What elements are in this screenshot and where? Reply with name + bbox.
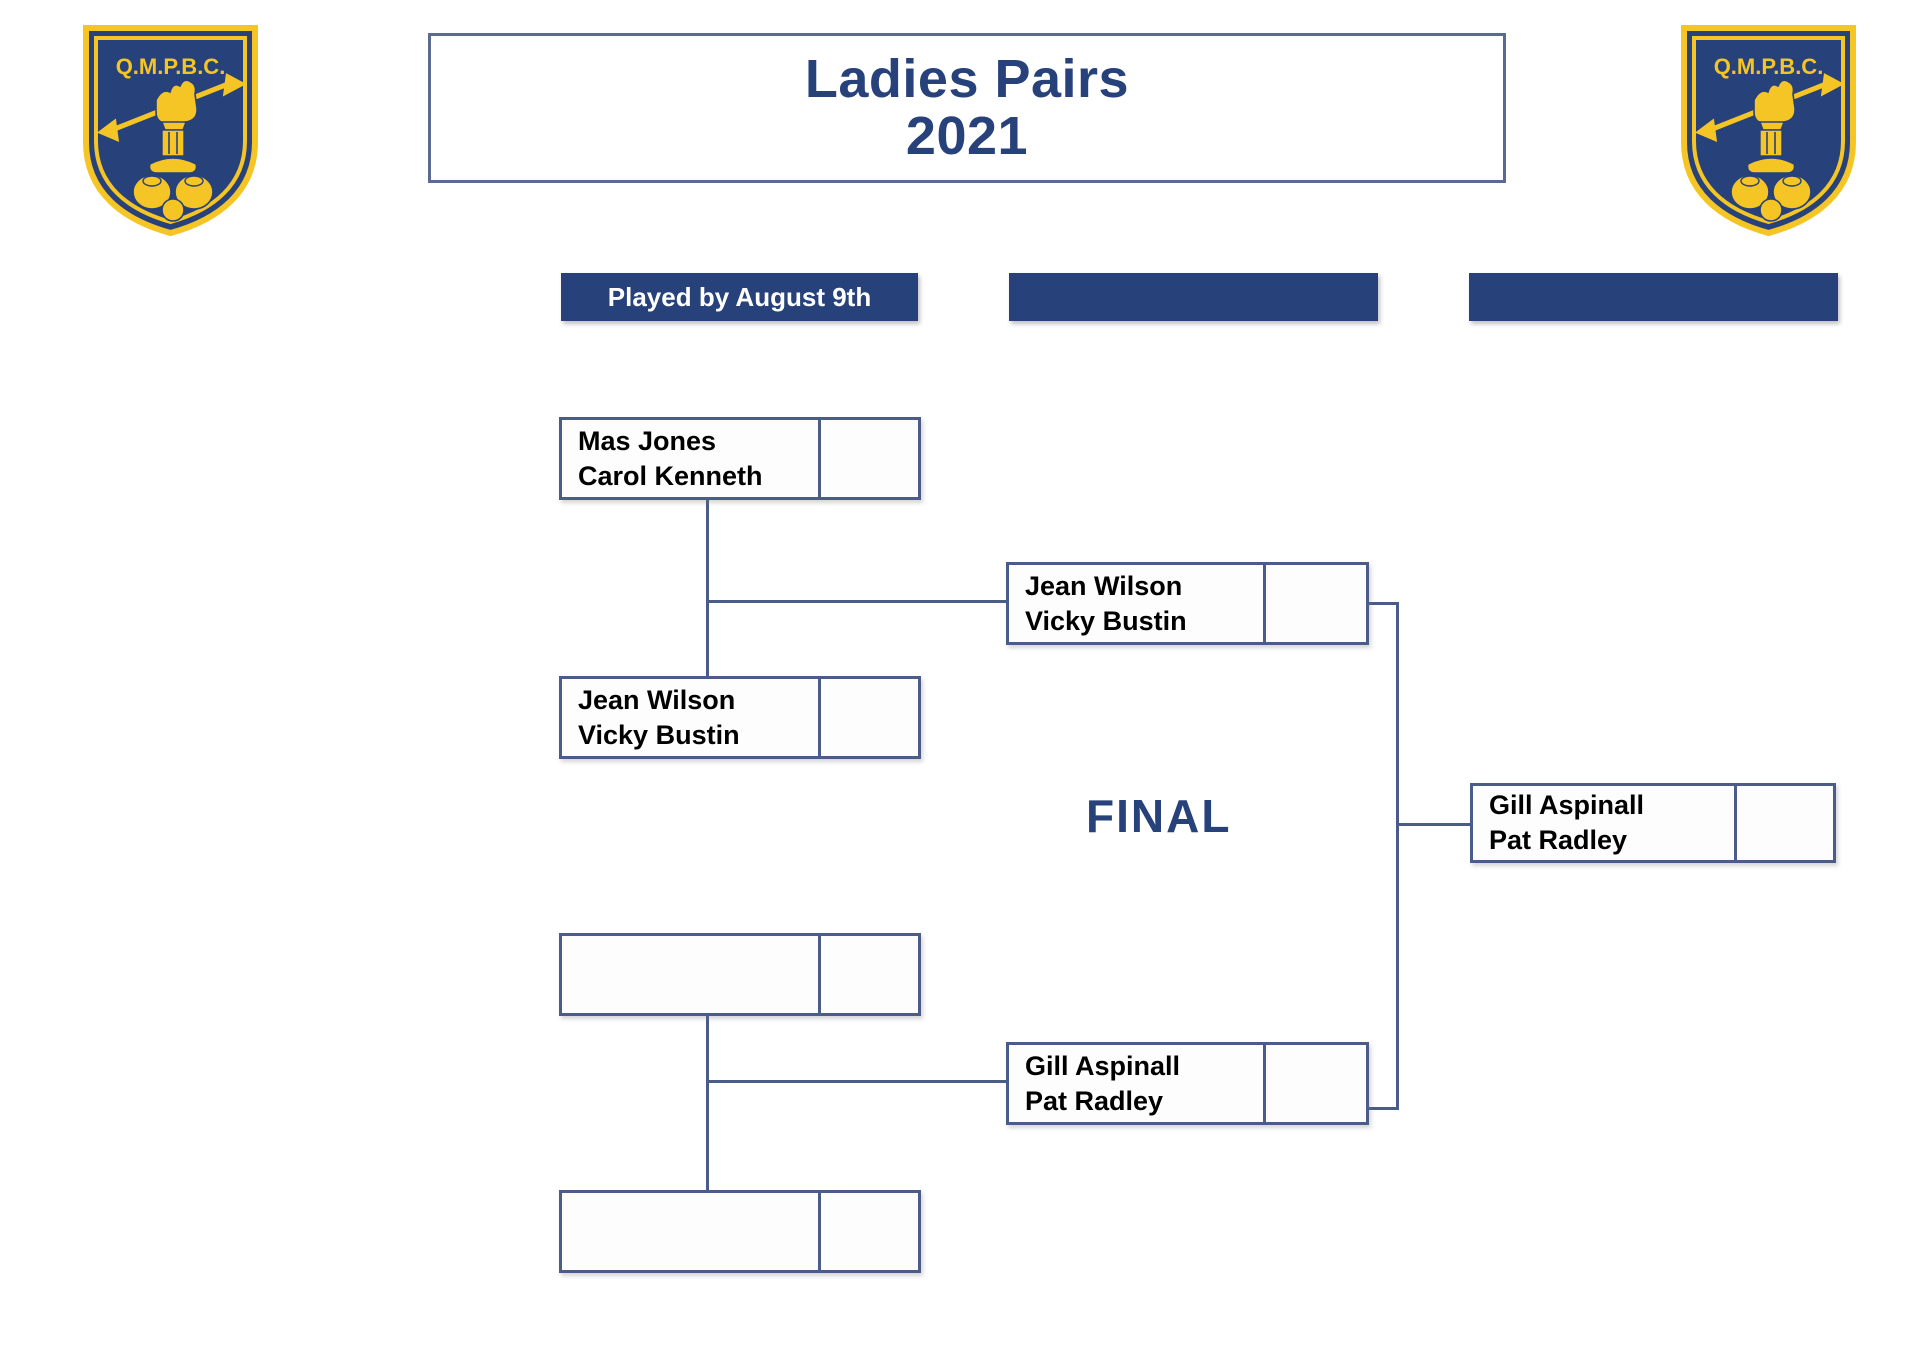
score-cell[interactable] (821, 679, 918, 756)
player-name: Gill Aspinall (1025, 1049, 1263, 1084)
match-box-round1-3[interactable] (559, 933, 921, 1016)
page-title-plate: Ladies Pairs 2021 (428, 33, 1506, 183)
match-box-semifinal-2[interactable]: Gill Aspinall Pat Radley (1006, 1042, 1369, 1125)
match-names: Gill Aspinall Pat Radley (1009, 1045, 1266, 1122)
banner-round-2-deadline (1009, 273, 1378, 321)
player-name: Jean Wilson (1025, 569, 1263, 604)
match-names: Jean Wilson Vicky Bustin (562, 679, 821, 756)
connector-line (1396, 823, 1472, 826)
player-name: Pat Radley (1489, 823, 1734, 858)
banner-label-1: Played by August 9th (608, 282, 871, 313)
connector-line (706, 1080, 1008, 1083)
match-names (562, 936, 821, 1013)
crest-initials-right: Q.M.P.B.C. (1714, 54, 1824, 79)
connector-line (706, 1081, 709, 1193)
connector-line (706, 1016, 709, 1081)
connector-line (706, 500, 709, 601)
connector-line (1368, 602, 1398, 605)
score-cell[interactable] (1266, 1045, 1366, 1122)
player-name: Mas Jones (578, 424, 818, 459)
final-label: FINAL (1086, 789, 1231, 843)
club-crest-left: Q.M.P.B.C. (78, 22, 263, 237)
score-cell[interactable] (821, 936, 918, 1013)
player-name: Gill Aspinall (1489, 788, 1734, 823)
player-name: Carol Kenneth (578, 459, 818, 494)
score-cell[interactable] (821, 420, 918, 497)
connector-line (706, 600, 1008, 603)
tournament-bracket-page: Q.M.P.B.C. Q.M.P.B.C. (0, 0, 1920, 1357)
club-crest-right: Q.M.P.B.C. (1676, 22, 1861, 237)
match-names: Mas Jones Carol Kenneth (562, 420, 821, 497)
player-name: Pat Radley (1025, 1084, 1263, 1119)
match-box-semifinal-1[interactable]: Jean Wilson Vicky Bustin (1006, 562, 1369, 645)
match-names: Jean Wilson Vicky Bustin (1009, 565, 1266, 642)
match-box-round1-1[interactable]: Mas Jones Carol Kenneth (559, 417, 921, 500)
match-names (562, 1193, 821, 1270)
banner-round-1-deadline: Played by August 9th (561, 273, 918, 321)
crest-initials-left: Q.M.P.B.C. (116, 54, 226, 79)
score-cell[interactable] (1266, 565, 1366, 642)
match-box-round1-2[interactable]: Jean Wilson Vicky Bustin (559, 676, 921, 759)
player-name: Jean Wilson (578, 683, 818, 718)
match-names: Gill Aspinall Pat Radley (1473, 786, 1737, 860)
connector-line (1368, 1107, 1398, 1110)
player-name: Vicky Bustin (1025, 604, 1263, 639)
banner-final-deadline (1469, 273, 1838, 321)
page-title-year: 2021 (906, 108, 1028, 165)
score-cell[interactable] (821, 1193, 918, 1270)
match-box-round1-4[interactable] (559, 1190, 921, 1273)
player-name: Vicky Bustin (578, 718, 818, 753)
page-title: Ladies Pairs (805, 51, 1129, 108)
connector-line (1396, 602, 1399, 1110)
score-cell[interactable] (1737, 786, 1833, 860)
match-box-winner[interactable]: Gill Aspinall Pat Radley (1470, 783, 1836, 863)
